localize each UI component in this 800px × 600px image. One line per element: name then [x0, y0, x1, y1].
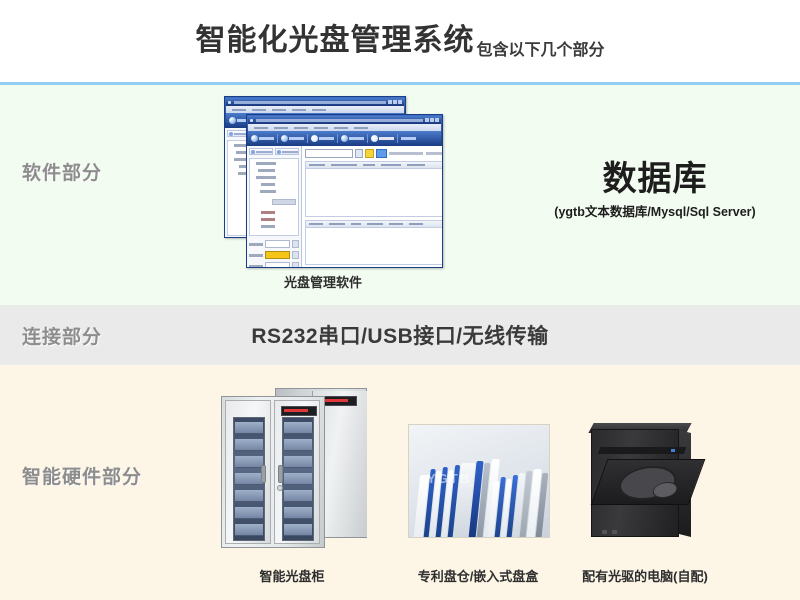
- maximize-icon[interactable]: [393, 100, 397, 104]
- photo-pc-with-optical-drive: [575, 413, 715, 545]
- form-row: [249, 262, 299, 268]
- folder-icon: [229, 132, 233, 136]
- tree-node[interactable]: [256, 176, 276, 179]
- cabinet-handle-left: [261, 465, 266, 483]
- page-title: 智能化光盘管理系统包含以下几个部分: [195, 25, 604, 57]
- sidebar-form: [249, 240, 299, 268]
- window-titlebar-back: [226, 98, 404, 106]
- disc-in-icon: [251, 135, 258, 142]
- section-label-software: 软件部分: [22, 158, 102, 185]
- column-header[interactable]: [381, 164, 401, 166]
- window-title-text: [256, 119, 423, 122]
- menu-item[interactable]: [294, 127, 308, 129]
- disc-seat: [613, 466, 681, 500]
- menu-item[interactable]: [334, 127, 348, 129]
- cabinet-led-display-rear: [321, 396, 357, 406]
- column-header[interactable]: [367, 223, 383, 225]
- column-header[interactable]: [329, 223, 345, 225]
- tree-panel-front[interactable]: [249, 158, 299, 236]
- toolbar-button[interactable]: [281, 135, 304, 142]
- caption-cabinet: 智能光盘柜: [212, 566, 372, 585]
- sidebar-front: [247, 146, 302, 268]
- toolbar-separator: [337, 134, 338, 143]
- disc-table[interactable]: [305, 161, 443, 217]
- column-header[interactable]: [309, 164, 325, 166]
- minimize-icon[interactable]: [425, 118, 429, 122]
- column-header[interactable]: [363, 164, 375, 166]
- disc-icon: [277, 150, 281, 154]
- tree-node[interactable]: [260, 190, 276, 193]
- page-header: 智能化光盘管理系统包含以下几个部分: [0, 0, 800, 82]
- drive-led-icon: [671, 449, 675, 452]
- pc-reset-button[interactable]: [612, 530, 617, 534]
- window-title-text: [234, 101, 386, 104]
- menu-item[interactable]: [312, 109, 326, 111]
- status-area: [389, 152, 443, 155]
- toolbar-button[interactable]: [401, 137, 416, 140]
- column-header[interactable]: [389, 223, 403, 225]
- device-icon: [371, 135, 378, 142]
- caption-pc: 配有光驱的电脑(自配): [566, 566, 724, 585]
- database-subtitle: (ygtb文本数据库/Mysql/Sql Server): [520, 201, 790, 220]
- page-title-sub: 包含以下几个部分: [476, 42, 604, 59]
- detail-table[interactable]: [305, 220, 443, 265]
- column-header[interactable]: [331, 164, 357, 166]
- warning-icon[interactable]: [365, 149, 374, 158]
- search-dropdown-button[interactable]: [355, 149, 363, 158]
- toolbar-button[interactable]: [251, 135, 274, 142]
- menu-item[interactable]: [252, 109, 266, 111]
- column-header[interactable]: [409, 223, 423, 225]
- field-label: [249, 243, 263, 246]
- disc-query-icon: [311, 135, 318, 142]
- toolbar-separator: [307, 134, 308, 143]
- window-titlebar-front: [248, 116, 441, 124]
- tab-category[interactable]: [249, 148, 273, 155]
- tree-node-alert[interactable]: [261, 211, 275, 214]
- tab-disc[interactable]: [275, 148, 299, 155]
- menu-item[interactable]: [274, 127, 288, 129]
- menu-item[interactable]: [354, 127, 368, 129]
- toolbar-button[interactable]: [311, 135, 334, 142]
- window-controls[interactable]: [425, 118, 439, 122]
- picker-button[interactable]: [292, 262, 299, 268]
- page-title-main: 智能化光盘管理系统: [195, 24, 474, 57]
- cabinet-front-unit: [221, 396, 325, 548]
- cabinet-door-right: [274, 400, 320, 544]
- tree-action-button[interactable]: [272, 199, 296, 205]
- menu-bar-back[interactable]: [226, 106, 404, 113]
- caption-software: 光盘管理软件: [238, 272, 408, 291]
- software-screenshot: [224, 96, 434, 266]
- toolbar-separator: [277, 134, 278, 143]
- toolbar-separator: [367, 134, 368, 143]
- tree-node[interactable]: [261, 183, 275, 186]
- section-label-hardware: 智能硬件部分: [22, 462, 142, 489]
- window-chrome-front: [247, 115, 442, 146]
- minimize-icon[interactable]: [388, 100, 392, 104]
- menu-bar-front[interactable]: [248, 124, 441, 131]
- app-icon: [250, 119, 253, 122]
- form-row: [249, 240, 299, 248]
- column-header[interactable]: [407, 164, 425, 166]
- cabinet-glass-right: [282, 417, 314, 541]
- field-label: [249, 254, 263, 257]
- text-input[interactable]: [265, 240, 290, 248]
- close-icon[interactable]: [398, 100, 402, 104]
- field-label: [249, 265, 263, 268]
- app-window-front[interactable]: [246, 114, 443, 268]
- close-icon[interactable]: [435, 118, 439, 122]
- column-header[interactable]: [309, 223, 323, 225]
- status-text: [389, 152, 423, 155]
- form-row-highlighted: [249, 251, 299, 259]
- window-body-front: [247, 146, 442, 268]
- menu-item[interactable]: [314, 127, 328, 129]
- status-count: [426, 152, 443, 155]
- search-bar: [305, 149, 443, 158]
- table-header: [306, 162, 443, 169]
- optical-drive-tray-open[interactable]: [591, 459, 706, 505]
- tree-node[interactable]: [258, 169, 275, 172]
- cabinet-led-display-front: [281, 406, 317, 416]
- toolbar-separator: [397, 134, 398, 143]
- folder-icon: [251, 150, 255, 154]
- menu-item[interactable]: [272, 109, 286, 111]
- caption-tray: 专利盘仓/嵌入式盘盒: [400, 566, 556, 585]
- table-header: [306, 221, 443, 228]
- disc-in-icon: [229, 117, 236, 124]
- tree-node-alert[interactable]: [261, 218, 275, 221]
- database-block: 数据库 (ygtb文本数据库/Mysql/Sql Server): [520, 160, 790, 220]
- settings-icon: [341, 135, 348, 142]
- text-input[interactable]: [265, 262, 290, 268]
- photo-smart-disc-cabinet: [213, 382, 371, 554]
- content-area-front: [302, 146, 443, 268]
- tree-node[interactable]: [261, 225, 275, 228]
- picker-button[interactable]: [292, 251, 299, 259]
- tree-node[interactable]: [256, 162, 276, 165]
- sidebar-tabs-front[interactable]: [249, 148, 299, 155]
- cabinet-handle-right: [278, 465, 283, 483]
- cabinet-lock-front: [277, 485, 283, 491]
- photo-disc-cartridges: YGTB: [408, 424, 550, 538]
- photo-watermark: YGTB: [427, 471, 471, 486]
- pc-power-button[interactable]: [602, 530, 607, 534]
- menu-item[interactable]: [254, 127, 268, 129]
- export-icon[interactable]: [376, 149, 387, 158]
- column-header[interactable]: [351, 223, 361, 225]
- database-title: 数据库: [520, 160, 790, 198]
- window-controls[interactable]: [388, 100, 402, 104]
- app-icon: [228, 101, 231, 104]
- text-input-active[interactable]: [265, 251, 290, 259]
- toolbar-button[interactable]: [371, 135, 394, 142]
- menu-item[interactable]: [292, 109, 306, 111]
- maximize-icon[interactable]: [430, 118, 434, 122]
- connection-methods-text: RS232串口/USB接口/无线传输: [0, 320, 800, 350]
- menu-item[interactable]: [232, 109, 246, 111]
- search-input[interactable]: [305, 149, 353, 158]
- picker-button[interactable]: [292, 240, 299, 248]
- disc-out-icon: [281, 135, 288, 142]
- toolbar-front[interactable]: [248, 131, 441, 145]
- page-root: 智能化光盘管理系统包含以下几个部分 软件部分: [0, 0, 800, 600]
- toolbar-button[interactable]: [341, 135, 364, 142]
- disc-hub: [650, 482, 680, 498]
- cabinet-door-left: [225, 400, 271, 544]
